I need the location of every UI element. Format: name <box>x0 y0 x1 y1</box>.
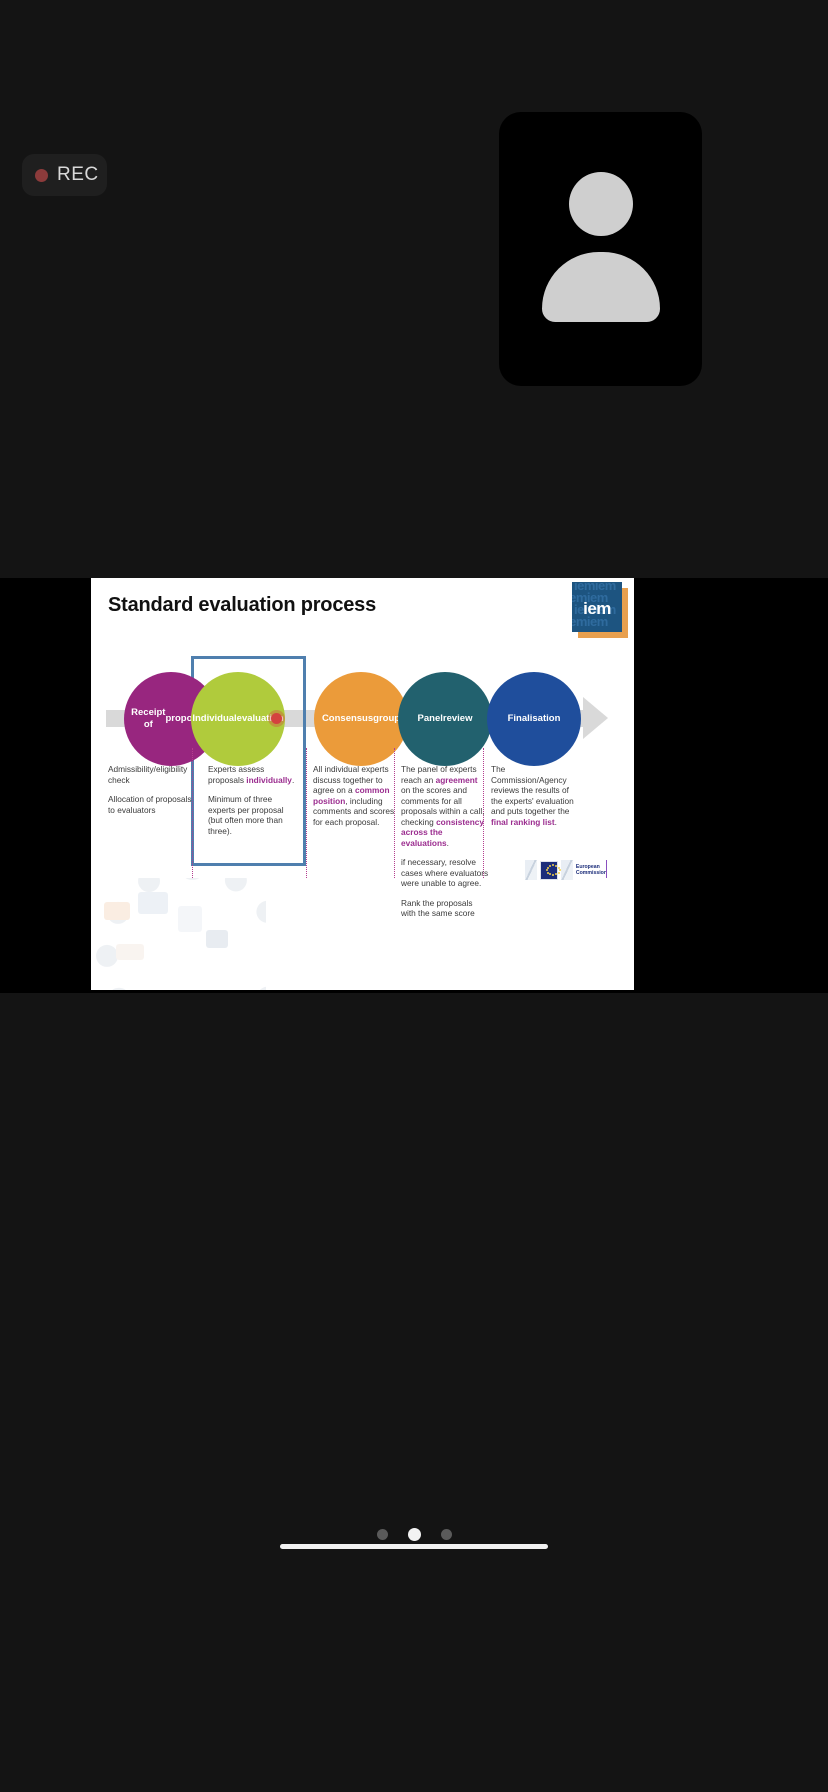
description-paragraph: The panel of experts reach an agreement … <box>401 764 489 848</box>
page-dot-2[interactable] <box>408 1528 421 1541</box>
description-paragraph: Admissibility/eligibility check <box>108 764 196 785</box>
description-paragraph: Rank the proposals with the same score <box>401 898 489 919</box>
eu-logo-wing-left-icon <box>525 860 537 880</box>
body-text: . <box>555 817 557 827</box>
eu-logo-text: European Commission <box>576 864 607 877</box>
page-dot-3[interactable] <box>441 1529 452 1540</box>
body-text: Minimum of three experts per proposal (b… <box>208 794 284 836</box>
step-description-1: Admissibility/eligibility checkAllocatio… <box>108 764 196 824</box>
process-arrow-head-icon <box>583 697 608 739</box>
avatar-body-icon <box>542 252 660 322</box>
body-text: if necessary, resolve cases where evalua… <box>401 857 488 888</box>
process-step-4[interactable]: Panelreview <box>398 672 492 766</box>
step-description-2: Experts assess proposals individually.Mi… <box>208 764 296 845</box>
emphasis-text: agreement <box>436 775 478 785</box>
column-separator-2 <box>306 748 307 878</box>
description-paragraph: Experts assess proposals individually. <box>208 764 296 785</box>
iem-logo: iemiem iemiem iemiem iemiem iem <box>572 582 628 638</box>
recording-label: REC <box>57 164 99 186</box>
emphasis-text: final ranking list <box>491 817 555 827</box>
process-step-5[interactable]: Finalisation <box>487 672 581 766</box>
process-step-label: review <box>443 713 473 725</box>
step-description-4: The panel of experts reach an agreement … <box>401 764 489 928</box>
process-step-label: Consensus <box>322 713 373 725</box>
page-title: Standard evaluation process <box>108 594 376 617</box>
iem-logo-text: iem <box>572 599 622 619</box>
process-step-label: Panel <box>418 713 443 725</box>
page-dot-1[interactable] <box>377 1529 388 1540</box>
remote-cursor <box>271 713 282 724</box>
eu-logo-wing-right-icon <box>561 860 573 880</box>
step-description-5: The Commission/Agency reviews the result… <box>491 764 579 836</box>
screen-share-stage: REC Standard evaluation process iemiem i… <box>0 0 828 1792</box>
body-text: Rank the proposals with the same score <box>401 898 475 919</box>
page-indicator-dots[interactable] <box>0 1528 828 1541</box>
description-paragraph: if necessary, resolve cases where evalua… <box>401 857 489 889</box>
body-text: . <box>447 838 449 848</box>
process-step-label: Receipt of <box>131 707 165 731</box>
shared-slide[interactable]: Standard evaluation process iemiem iemie… <box>91 578 634 990</box>
european-commission-logo: European Commission <box>525 858 607 882</box>
participant-video-tile[interactable] <box>499 112 702 386</box>
body-text: . <box>292 775 294 785</box>
recording-indicator: REC <box>22 154 107 196</box>
description-paragraph: All individual experts discuss together … <box>313 764 401 827</box>
process-step-label: Individual <box>192 713 236 725</box>
step-description-3: All individual experts discuss together … <box>313 764 401 836</box>
description-paragraph: Allocation of proposals to evaluators <box>108 794 196 815</box>
record-dot-icon <box>35 169 48 182</box>
home-indicator <box>280 1544 548 1549</box>
description-paragraph: Minimum of three experts per proposal (b… <box>208 794 296 836</box>
process-step-label: Finalisation <box>508 713 561 725</box>
process-step-label: group <box>373 713 400 725</box>
avatar-head-icon <box>569 172 633 236</box>
body-text: Admissibility/eligibility check <box>108 764 187 785</box>
emphasis-text: individually <box>246 775 292 785</box>
decorative-watermark <box>91 878 266 990</box>
body-text: Allocation of proposals to evaluators <box>108 794 191 815</box>
eu-flag-icon <box>540 861 557 880</box>
body-text: The Commission/Agency reviews the result… <box>491 764 574 816</box>
eu-logo-bar <box>606 860 608 878</box>
eu-logo-line2: Commission <box>576 870 607 877</box>
iem-logo-square: iemiem iemiem iemiem iemiem iem <box>572 582 622 632</box>
description-paragraph: The Commission/Agency reviews the result… <box>491 764 579 827</box>
